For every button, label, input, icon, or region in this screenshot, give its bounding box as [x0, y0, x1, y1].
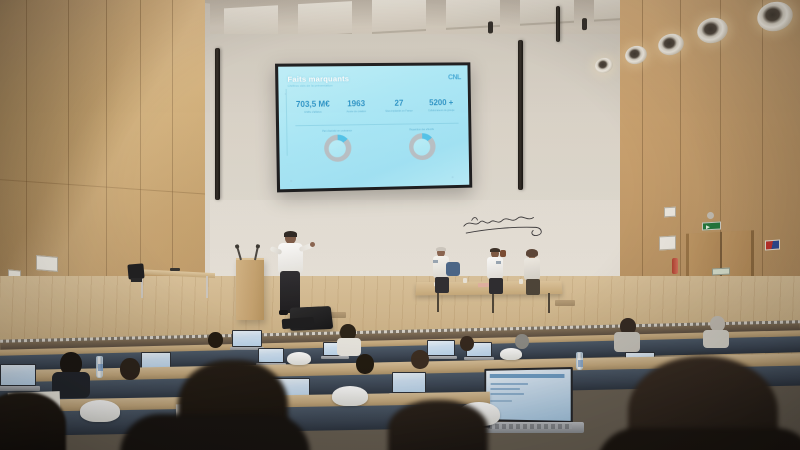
ceiling-spotlight-icon — [582, 18, 587, 30]
desk-object — [170, 268, 180, 271]
slide-kpi: 27 Sites implantés en France — [378, 98, 421, 112]
slide-surface: Faits marquants Chiffres clés de la prés… — [278, 65, 469, 189]
slide-kpi: 5200 + Collaborateurs du groupe — [420, 98, 462, 112]
table-leg — [437, 292, 439, 312]
panelist-center — [484, 249, 508, 295]
laptop-doc-line — [491, 383, 528, 385]
door-sensor-icon — [707, 212, 714, 219]
foreground-person-left-shoulder — [120, 414, 310, 450]
donut-chart-1: Part d'activité en croissance — [322, 129, 352, 162]
slide-kpi: 1963 Année de création — [334, 99, 377, 113]
chair-seat — [131, 278, 142, 282]
table-leg — [492, 293, 494, 313]
navy-cap — [332, 386, 368, 406]
wall-notice — [36, 255, 58, 272]
audience-head — [356, 354, 374, 374]
lectern — [236, 258, 264, 320]
navy-cap — [80, 400, 120, 422]
table-leg — [206, 276, 208, 298]
laptop-doc-line — [490, 388, 519, 390]
kpi-label: Collaborateurs du groupe — [420, 108, 462, 112]
kpi-value: 1963 — [334, 99, 377, 109]
donut-ring — [324, 134, 352, 162]
slide-donut-row: Part d'activité en croissance Répartitio… — [293, 128, 463, 163]
slide-divider — [295, 123, 458, 127]
epaulette — [433, 260, 438, 263]
slide-axis-line — [286, 89, 288, 156]
audience-head — [120, 358, 140, 380]
line-array-speaker-left — [215, 48, 220, 200]
slide-subtitle: Chiffres clés de la présentation — [288, 83, 333, 87]
presenter-shoe — [279, 310, 288, 315]
epaulette — [496, 261, 501, 264]
laptop-keys — [488, 424, 572, 429]
floor-vent — [555, 300, 575, 306]
audience-head — [515, 334, 529, 349]
panel-chair[interactable] — [446, 262, 460, 276]
ceiling-spotlight-icon — [488, 21, 493, 33]
fire-extinguisher-icon — [672, 258, 678, 274]
audience-head — [411, 350, 429, 369]
donut-ring — [408, 133, 435, 160]
line-array-speaker-right — [518, 40, 523, 190]
presenter-hand — [310, 242, 315, 247]
panelist-right — [521, 250, 545, 296]
foreground-person-right-shoulder — [596, 428, 800, 450]
panelist-hair — [436, 247, 446, 251]
water-bottle — [576, 352, 583, 370]
table-cup — [463, 278, 467, 283]
donut-chart-2: Répartition des effectifs — [408, 128, 435, 160]
donut-caption: Répartition des effectifs — [408, 128, 435, 131]
wall-notice — [664, 207, 676, 218]
laptop-doc-line — [490, 400, 512, 402]
audience-shirt — [703, 330, 729, 348]
projection-screen: Faits marquants Chiffres clés de la prés… — [275, 62, 472, 192]
panelist-legs — [526, 279, 540, 295]
slide-kpi: 703,5 M€ Chiffre d'affaires — [291, 99, 335, 113]
exit-sign-icon — [702, 222, 721, 231]
foreground-person-center — [388, 400, 488, 450]
donut-caption: Part d'activité en croissance — [322, 129, 352, 133]
kpi-label: Chiffre d'affaires — [291, 110, 335, 114]
audience-head — [208, 332, 223, 348]
auditorium-scene: Faits marquants Chiffres clés de la prés… — [0, 0, 800, 450]
kpi-value: 27 — [378, 98, 421, 108]
kpi-label: Sites implantés en France — [378, 109, 421, 113]
wall-signature-art — [459, 208, 551, 249]
slide-title: Faits marquants — [287, 74, 349, 84]
navy-cap — [500, 348, 522, 360]
kpi-value: 5200 + — [420, 98, 462, 107]
table-leg — [548, 293, 550, 313]
laptop-doc-line — [491, 393, 524, 395]
line-array-speaker-far-right — [556, 6, 560, 42]
laptop-doc-header — [490, 374, 565, 378]
flag-sticker-icon — [765, 239, 780, 250]
audience-shirt — [614, 332, 640, 352]
kpi-value: 703,5 M€ — [291, 99, 335, 109]
kpi-label: Année de création — [335, 109, 378, 113]
slide-kpi-row: 703,5 M€ Chiffre d'affaires 1963 Année d… — [291, 98, 462, 114]
panelist-legs — [435, 277, 449, 293]
navy-cap — [287, 352, 311, 365]
slide-logo: CNL — [448, 74, 461, 81]
panelist-blouse — [524, 258, 540, 280]
presenter-hair — [284, 231, 297, 237]
audience-shirt — [337, 338, 361, 356]
audience-head — [460, 336, 474, 351]
panelist-legs — [489, 278, 503, 294]
panelist-hair — [490, 248, 500, 252]
wall-notice — [659, 236, 676, 251]
panelist-hair — [526, 249, 538, 257]
door-plate — [712, 268, 730, 276]
water-bottle — [96, 356, 103, 378]
